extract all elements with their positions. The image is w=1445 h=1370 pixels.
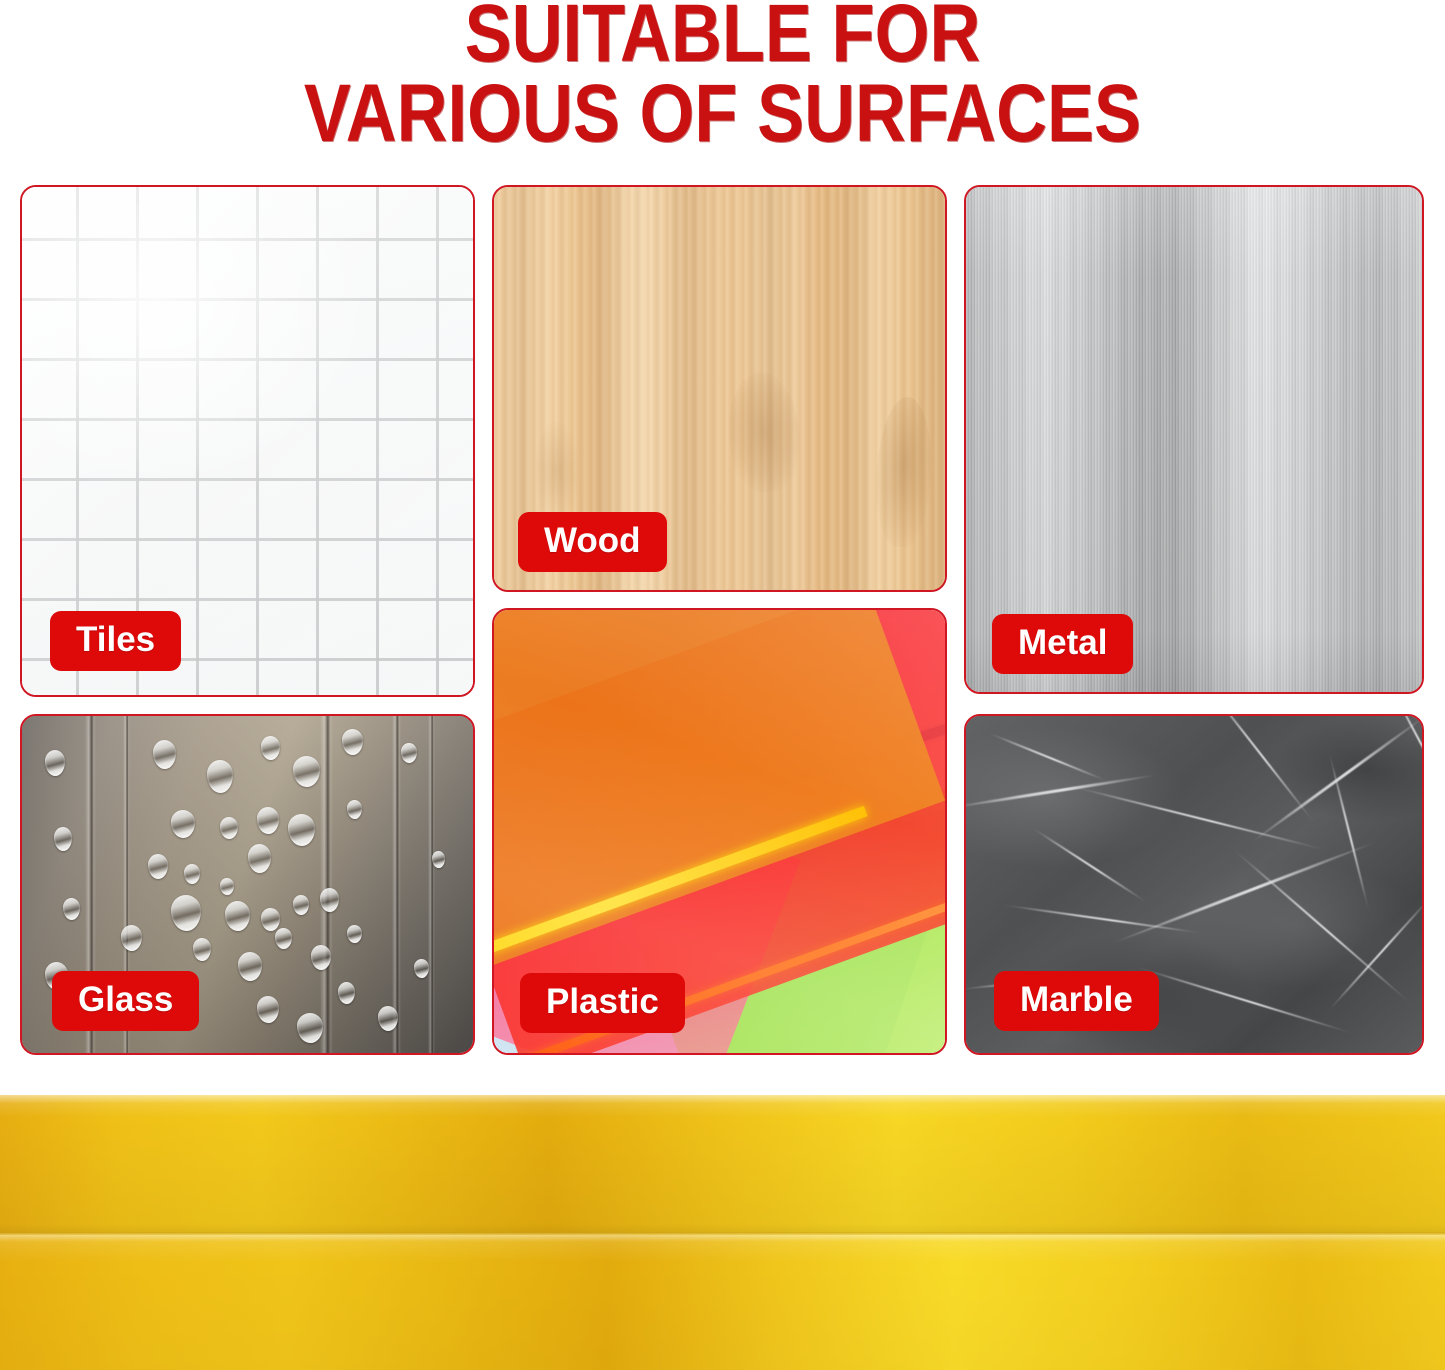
water-droplet <box>347 800 362 819</box>
title-line-1: SUITABLE FOR <box>101 0 1344 72</box>
squeegee-blade-upper-face <box>0 1095 1445 1235</box>
marble-vein <box>989 733 1108 783</box>
squeegee-blade-lower-face <box>0 1235 1445 1370</box>
water-droplet <box>54 827 72 851</box>
water-droplet <box>225 901 250 931</box>
water-droplet <box>338 982 355 1004</box>
water-droplet <box>45 750 65 776</box>
marble-vein <box>1112 841 1377 945</box>
water-droplet <box>121 925 142 951</box>
water-droplet <box>193 938 211 961</box>
marble-vein <box>1250 714 1424 844</box>
water-droplet <box>311 945 331 970</box>
surface-card-glass: Glass <box>20 714 475 1055</box>
water-droplet <box>171 810 195 838</box>
yellow-squeegee-blade <box>0 1095 1445 1370</box>
marble-vein <box>1328 752 1370 912</box>
marble-vein <box>964 774 1156 810</box>
water-droplet <box>293 756 320 787</box>
water-droplet <box>288 814 315 846</box>
surface-card-plastic: Plastic <box>492 608 947 1055</box>
water-droplet <box>257 996 279 1023</box>
surface-label-wood: Wood <box>518 512 667 572</box>
water-droplet <box>293 895 309 915</box>
water-droplet <box>320 888 339 912</box>
marble-vein <box>1031 827 1147 903</box>
surface-label-marble: Marble <box>994 971 1159 1031</box>
marble-vein <box>1232 847 1412 1004</box>
water-droplet <box>184 864 200 884</box>
surface-label-metal: Metal <box>992 614 1133 674</box>
water-droplet <box>257 807 279 834</box>
water-droplet <box>347 925 362 943</box>
water-droplet <box>401 743 417 763</box>
surface-label-plastic: Plastic <box>520 973 685 1033</box>
wood-grain-knot <box>873 395 935 548</box>
glass-streak <box>428 714 435 1055</box>
marble-vein <box>1328 895 1424 1012</box>
wood-grain-knot <box>535 421 579 521</box>
water-droplet <box>63 898 80 920</box>
wood-grain-knot <box>724 370 802 495</box>
water-droplet <box>207 760 233 793</box>
water-droplet <box>297 1013 323 1043</box>
water-droplet <box>261 908 280 931</box>
surface-card-wood: Wood <box>492 185 947 592</box>
water-droplet <box>153 740 176 769</box>
surface-label-glass: Glass <box>52 971 199 1031</box>
water-droplet <box>220 878 234 895</box>
water-droplet <box>220 817 238 839</box>
title-line-2: VARIOUS OF SURFACES <box>101 76 1344 152</box>
surface-card-metal: Metal <box>964 185 1424 694</box>
water-droplet <box>171 895 201 931</box>
marble-vein <box>1070 785 1327 851</box>
surface-card-tiles: Tiles <box>20 185 475 697</box>
water-droplet <box>432 851 445 868</box>
page-title: SUITABLE FOR VARIOUS OF SURFACES <box>0 0 1445 170</box>
marble-vein <box>1135 966 1354 1035</box>
marble-vein <box>1384 714 1424 798</box>
glass-streak <box>320 714 333 1055</box>
water-droplet <box>275 928 292 949</box>
water-droplet <box>261 736 280 760</box>
surface-label-tiles: Tiles <box>50 611 181 671</box>
water-droplet <box>342 729 363 755</box>
water-droplet <box>238 952 262 981</box>
surface-card-marble: Marble <box>964 714 1424 1055</box>
water-droplet <box>148 854 168 879</box>
glass-streak <box>392 714 401 1055</box>
water-droplet <box>248 844 271 873</box>
